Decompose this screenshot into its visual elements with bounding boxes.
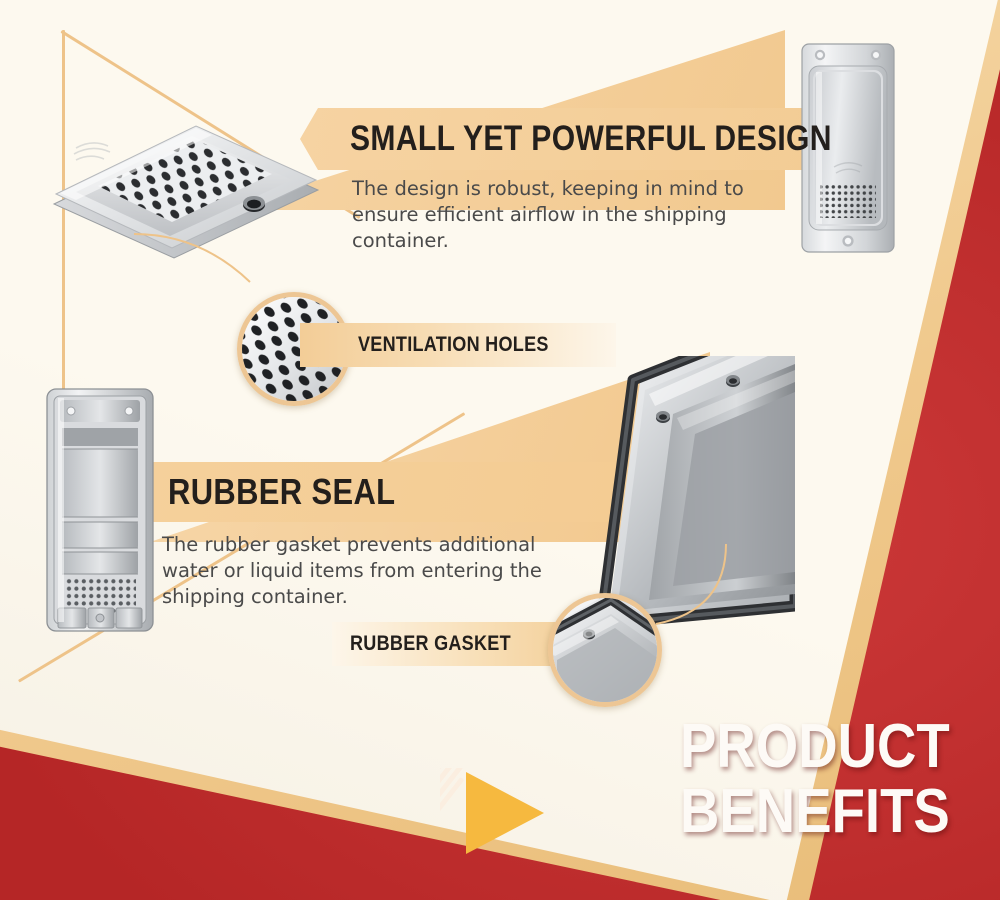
feature-band-1: SMALL YET POWERFUL DESIGN: [300, 108, 840, 170]
page-title-line1: PRODUCT: [680, 718, 950, 777]
feature-body-2: The rubber gasket prevents additional wa…: [162, 532, 582, 610]
feature-body-1: The design is robust, keeping in mind to…: [352, 176, 772, 254]
feature-heading-1: SMALL YET POWERFUL DESIGN: [350, 119, 832, 159]
leader-line-gasket: [590, 540, 730, 650]
feature-heading-2: RUBBER SEAL: [168, 471, 395, 513]
leader-line-ventilation: [130, 230, 310, 320]
decor-play-arrow: [440, 768, 560, 858]
product-vent-plate-interior: [44, 386, 156, 634]
callout-label-1: VENTILATION HOLES: [358, 333, 549, 357]
page-title: PRODUCT BENEFITS: [680, 718, 987, 842]
callout-label-2: RUBBER GASKET: [350, 632, 511, 656]
infographic-canvas: SMALL YET POWERFUL DESIGN The design is …: [0, 0, 1000, 900]
play-triangle-icon: [462, 768, 552, 858]
page-title-line2: BENEFITS: [680, 783, 950, 842]
